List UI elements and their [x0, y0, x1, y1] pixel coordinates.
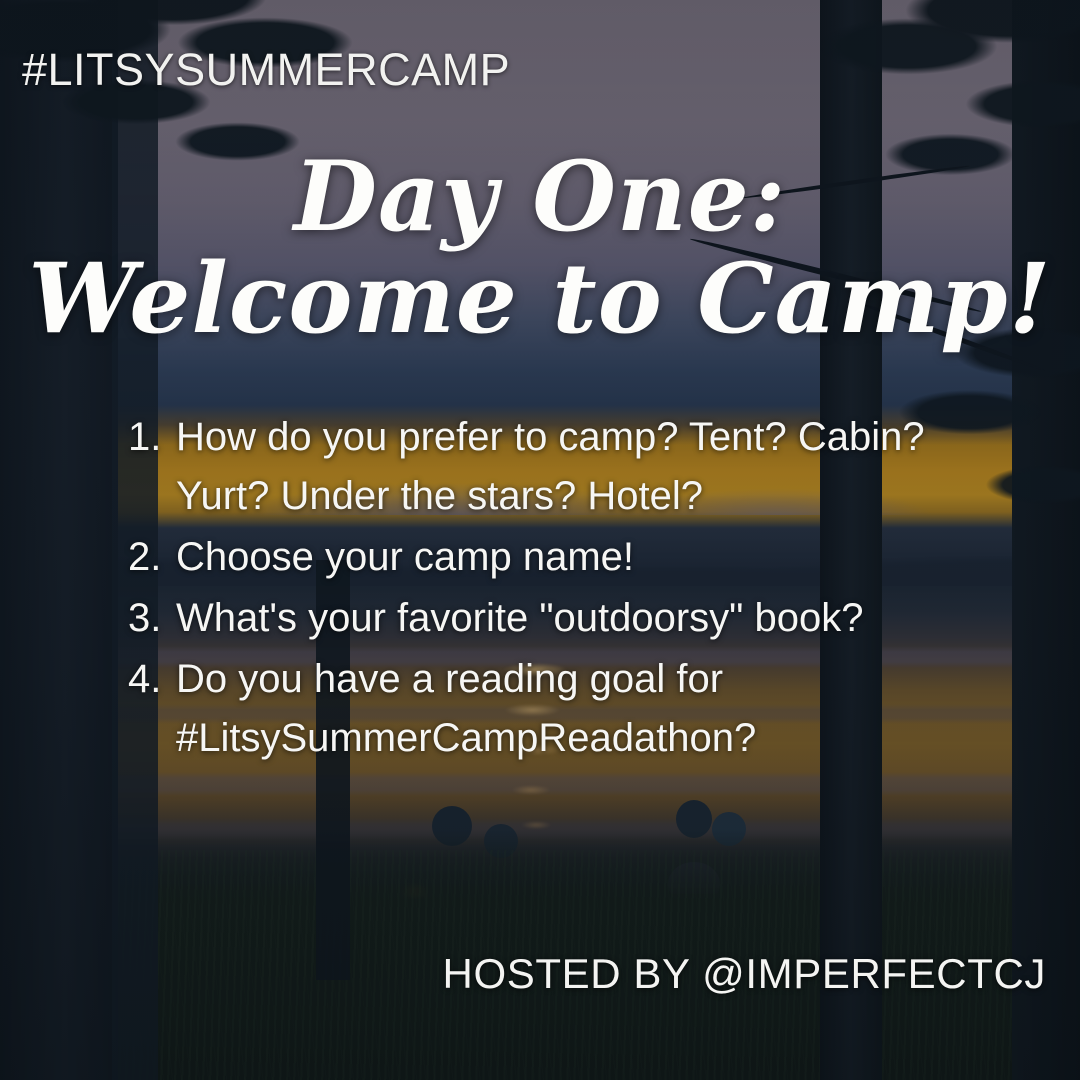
list-item-number: 1. — [128, 408, 176, 467]
poster-content: #LITSYSUMMERCAMP Day One: Welcome to Cam… — [0, 0, 1080, 1080]
poster: #LITSYSUMMERCAMP Day One: Welcome to Cam… — [0, 0, 1080, 1080]
list-item-number: 4. — [128, 650, 176, 709]
list-item: 1. How do you prefer to camp? Tent? Cabi… — [128, 408, 1008, 526]
hosted-by-credit: HOSTED BY @IMPERFECTCJ — [443, 950, 1046, 998]
list-item-text: Choose your camp name! — [176, 528, 1008, 587]
list-item-text: How do you prefer to camp? Tent? Cabin? … — [176, 408, 1008, 526]
campaign-hashtag: #LITSYSUMMERCAMP — [22, 44, 510, 96]
list-item-text: Do you have a reading goal for #LitsySum… — [176, 650, 1008, 768]
question-list: 1. How do you prefer to camp? Tent? Cabi… — [128, 408, 1008, 770]
list-item-number: 2. — [128, 528, 176, 587]
list-item-text: What's your favorite "outdoorsy" book? — [176, 589, 1008, 648]
title-line-2: Welcome to Camp! — [0, 250, 1080, 348]
list-item: 4. Do you have a reading goal for #Litsy… — [128, 650, 1008, 768]
list-item: 2. Choose your camp name! — [128, 528, 1008, 587]
page-title: Day One: Welcome to Camp! — [0, 148, 1080, 348]
title-line-1: Day One: — [0, 148, 1080, 246]
list-item: 3. What's your favorite "outdoorsy" book… — [128, 589, 1008, 648]
list-item-number: 3. — [128, 589, 176, 648]
